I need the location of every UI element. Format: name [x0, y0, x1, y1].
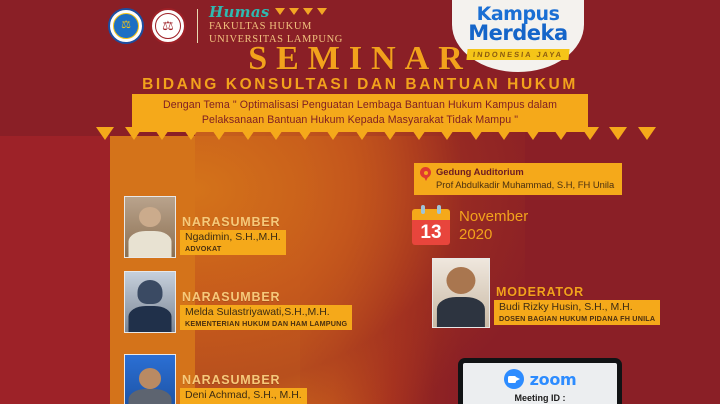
page-title: SEMINAR — [0, 40, 720, 78]
speaker-card: NARASUMBER Deni Achmad, S.H., M.H. BKBH … — [124, 354, 307, 404]
speaker-role: NARASUMBER — [182, 373, 307, 387]
calendar-day: 13 — [420, 223, 441, 242]
moderator-role: MODERATOR — [496, 285, 660, 299]
speaker-role: NARASUMBER — [182, 215, 286, 229]
speaker-name: Melda Sulastriyawati,S.H.,M.H. — [185, 306, 347, 319]
zoom-screen: zoom Meeting ID : — [463, 363, 617, 404]
speaker-name-box: Ngadimin, S.H.,M.H. ADVOKAT — [180, 230, 286, 255]
zoom-meeting-id: Meeting ID : — [515, 393, 566, 403]
universitas-lampung-logo-icon: ⚖ — [108, 8, 144, 44]
location-pin-icon — [420, 167, 431, 181]
zoom-camera-icon — [504, 369, 524, 389]
avatar — [432, 258, 490, 328]
venue-line-1: Gedung Auditorium — [436, 166, 614, 179]
fh-scales-glyph: ⚖ — [155, 13, 181, 39]
humas-label: Humas — [209, 5, 270, 21]
avatar — [124, 196, 176, 258]
zoom-meeting-panel: zoom Meeting ID : — [458, 358, 622, 404]
event-date-block: 13 November 2020 — [412, 205, 528, 247]
tumpal-triangle-icon-group — [275, 8, 327, 15]
fakultas-hukum-logo-icon: ⚖ — [150, 8, 186, 44]
moderator-name: Budi Rizky Husin, S.H., M.H. — [499, 301, 655, 314]
speaker-card: NARASUMBER Ngadimin, S.H.,M.H. ADVOKAT — [124, 196, 286, 258]
speaker-name-box: Deni Achmad, S.H., M.H. BKBH FH UNILA — [180, 388, 307, 404]
page-subtitle: BIDANG KONSULTASI DAN BANTUAN HUKUM — [0, 76, 720, 94]
moderator-card: MODERATOR Budi Rizky Husin, S.H., M.H. D… — [432, 258, 660, 328]
venue-banner: Gedung Auditorium Prof Abdulkadir Muhamm… — [414, 163, 622, 195]
speaker-name: Ngadimin, S.H.,M.H. — [185, 231, 281, 244]
speaker-role: NARASUMBER — [182, 290, 352, 304]
unila-emblem-glyph: ⚖ — [113, 13, 139, 39]
zoom-brand-label: zoom — [530, 370, 577, 389]
theme-line-1: Dengan Tema " Optimalisasi Penguatan Lem… — [140, 98, 580, 113]
avatar — [124, 354, 176, 404]
theme-line-2: Pelaksanaan Bantuan Hukum Kepada Masyara… — [140, 113, 580, 128]
seminar-poster: ⚖ ⚖ Humas FAKULTAS HUKUM UNIVERSITAS LAM… — [0, 0, 720, 404]
speaker-org: KEMENTERIAN HUKUM DAN HAM LAMPUNG — [185, 319, 347, 328]
zoom-logo: zoom — [504, 369, 577, 389]
event-month: November — [459, 208, 528, 226]
tumpal-border-decoration — [96, 127, 656, 141]
speaker-name: Deni Achmad, S.H., M.H. — [185, 389, 302, 402]
speaker-name-box: Melda Sulastriyawati,S.H.,M.H. KEMENTERI… — [180, 305, 352, 330]
avatar — [124, 271, 176, 333]
logo-divider — [197, 9, 198, 43]
speaker-card: NARASUMBER Melda Sulastriyawati,S.H.,M.H… — [124, 271, 352, 333]
moderator-org: DOSEN BAGIAN HUKUM PIDANA FH UNILA — [499, 314, 655, 323]
moderator-name-box: Budi Rizky Husin, S.H., M.H. DOSEN BAGIA… — [494, 300, 660, 325]
event-year: 2020 — [459, 226, 528, 244]
calendar-icon: 13 — [412, 205, 450, 247]
venue-line-2: Prof Abdulkadir Muhammad, S.H, FH Unila — [436, 179, 614, 192]
speaker-org: ADVOKAT — [185, 244, 281, 253]
institution-line-1: FAKULTAS HUKUM — [209, 21, 343, 34]
